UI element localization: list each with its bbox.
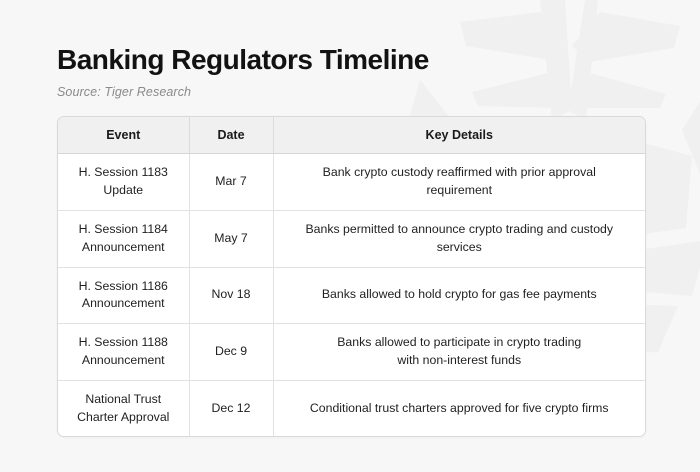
event-line-2: Announcement [82,353,165,367]
table-row: H. Session 1183 Update Mar 7 Bank crypto… [58,154,645,211]
details-line-1: Bank crypto custody reaffirmed with prio… [323,165,596,179]
event-line-1: H. Session 1186 [79,279,168,293]
cell-details: Banks allowed to participate in crypto t… [273,324,645,381]
cell-event: H. Session 1183 Update [58,154,189,211]
cell-date: May 7 [189,210,273,267]
source-attribution: Source: Tiger Research [57,85,646,99]
cell-date: Dec 9 [189,324,273,381]
event-line-1: H. Session 1183 [79,165,168,179]
timeline-table-container: Event Date Key Details H. Session 1183 U… [57,116,646,437]
event-line-2: Announcement [82,240,165,254]
cell-event: H. Session 1186 Announcement [58,267,189,324]
event-line-1: National Trust [85,392,161,406]
table-header-row: Event Date Key Details [58,117,645,154]
table-row: H. Session 1184 Announcement May 7 Banks… [58,210,645,267]
details-line-1: Banks permitted to announce crypto tradi… [305,222,613,236]
event-line-2: Charter Approval [77,410,169,424]
cell-date: Dec 12 [189,380,273,436]
table-row: H. Session 1188 Announcement Dec 9 Banks… [58,324,645,381]
cell-details: Banks allowed to hold crypto for gas fee… [273,267,645,324]
cell-details: Conditional trust charters approved for … [273,380,645,436]
cell-details: Banks permitted to announce crypto tradi… [273,210,645,267]
details-line-2: services [437,240,482,254]
event-line-1: H. Session 1184 [79,222,168,236]
page-content: Banking Regulators Timeline Source: Tige… [0,0,700,437]
table-header: Event Date Key Details [58,117,645,154]
event-line-2: Announcement [82,296,165,310]
column-header-date[interactable]: Date [189,117,273,154]
details-line-1: Banks allowed to participate in crypto t… [337,335,581,349]
details-line-1: Banks allowed to hold crypto for gas fee… [322,287,597,301]
event-line-1: H. Session 1188 [79,335,168,349]
column-header-event[interactable]: Event [58,117,189,154]
table-row: National Trust Charter Approval Dec 12 C… [58,380,645,436]
details-line-2: requirement [426,183,492,197]
cell-event: H. Session 1184 Announcement [58,210,189,267]
page-title: Banking Regulators Timeline [57,44,646,76]
details-line-2: with non-interest funds [397,353,521,367]
banking-regulators-timeline-table: Event Date Key Details H. Session 1183 U… [58,117,645,436]
table-row: H. Session 1186 Announcement Nov 18 Bank… [58,267,645,324]
event-line-2: Update [103,183,143,197]
cell-date: Mar 7 [189,154,273,211]
table-body: H. Session 1183 Update Mar 7 Bank crypto… [58,154,645,437]
details-line-1: Conditional trust charters approved for … [310,401,609,415]
cell-event: National Trust Charter Approval [58,380,189,436]
cell-date: Nov 18 [189,267,273,324]
cell-event: H. Session 1188 Announcement [58,324,189,381]
column-header-details[interactable]: Key Details [273,117,645,154]
cell-details: Bank crypto custody reaffirmed with prio… [273,154,645,211]
